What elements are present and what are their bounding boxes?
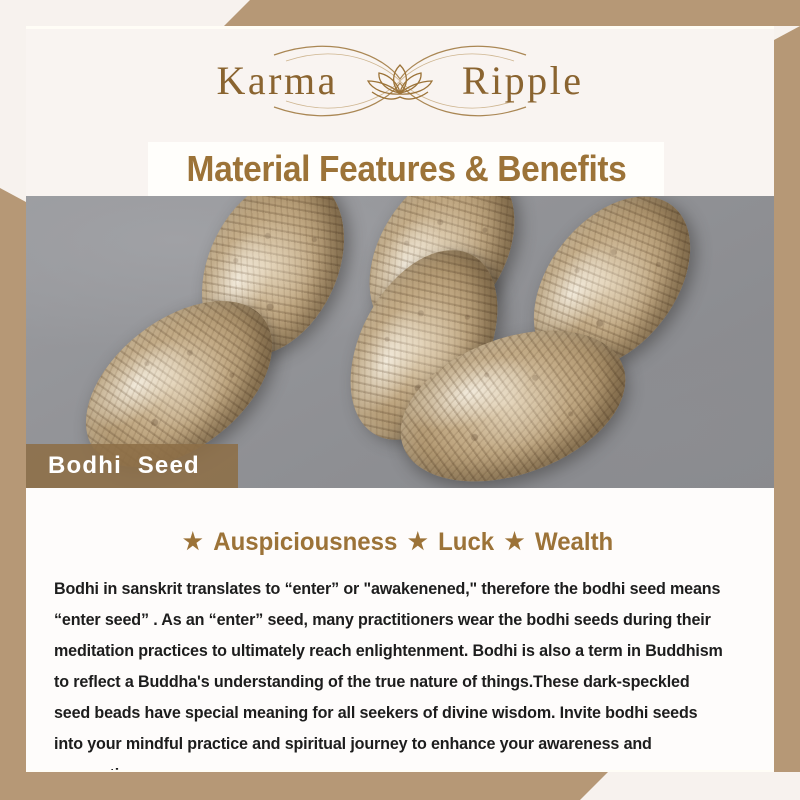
- frame-accent-bottom: [0, 772, 608, 800]
- brand-name-right: Ripple: [462, 61, 584, 101]
- star-icon: ★: [183, 528, 203, 554]
- title-plate: Material Features & Benefits: [148, 142, 664, 196]
- benefits-headline: ★ Auspiciousness ★ Luck ★ Wealth: [54, 528, 745, 557]
- description-panel: ★ Auspiciousness ★ Luck ★ Wealth Bodhi i…: [26, 488, 774, 772]
- frame-hairline-bottom: [26, 770, 774, 772]
- star-icon: ★: [408, 528, 428, 554]
- brand-name-left: Karma: [217, 61, 338, 101]
- poster-canvas: Karma Ripple Material Features & Benefit…: [26, 28, 774, 772]
- benefit-auspiciousness: Auspiciousness: [213, 528, 397, 556]
- benefit-luck: Luck: [438, 528, 494, 556]
- star-icon: ★: [505, 528, 525, 554]
- frame-accent-right: [774, 26, 800, 772]
- brand-logo: Karma Ripple: [200, 39, 600, 123]
- product-name-label: Bodhi Seed: [48, 452, 200, 480]
- title-band: Material Features & Benefits: [26, 134, 774, 196]
- frame-accent-left: [0, 188, 26, 772]
- product-photo: Bodhi Seed: [26, 196, 774, 488]
- description-paragraph: Bodhi in sanskrit translates to “enter” …: [54, 573, 725, 772]
- brand-header: Karma Ripple: [26, 28, 774, 134]
- frame-hairline-top: [26, 26, 774, 29]
- page-title: Material Features & Benefits: [186, 148, 626, 190]
- frame-accent-top: [224, 0, 800, 26]
- product-name-banner: Bodhi Seed: [26, 444, 238, 488]
- benefit-wealth: Wealth: [535, 528, 613, 556]
